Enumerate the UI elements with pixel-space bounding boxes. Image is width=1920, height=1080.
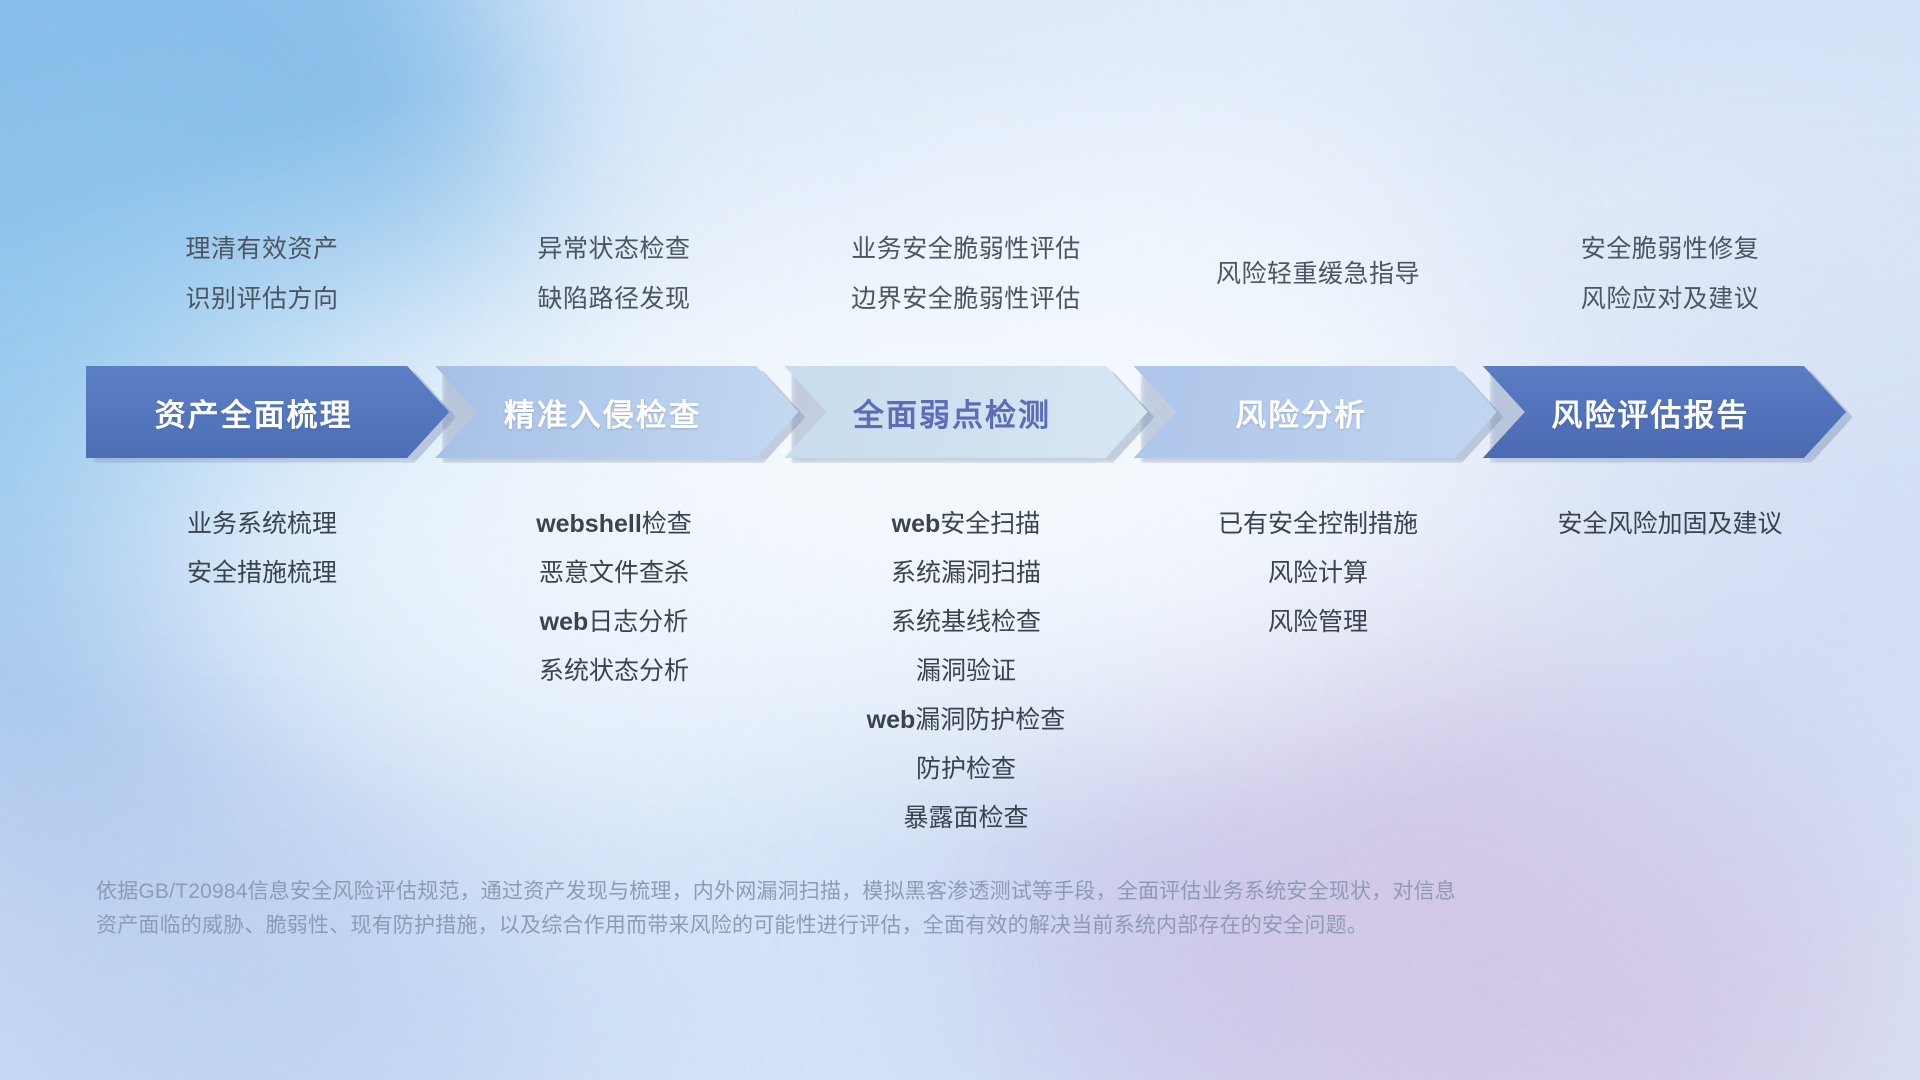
- bottom-item: web日志分析: [438, 598, 790, 647]
- bottom-items-weakness-detection: web安全扫描系统漏洞扫描系统基线检查漏洞验证web漏洞防护检查防护检查暴露面检…: [790, 500, 1142, 843]
- chevron-weakness-detection[interactable]: 全面弱点检测: [784, 366, 1147, 458]
- slide-canvas: 理清有效资产识别评估方向异常状态检查缺陷路径发现业务安全脆弱性评估边界安全脆弱性…: [0, 0, 1920, 1080]
- bottom-item-cjk: 日志分析: [588, 608, 688, 636]
- top-item: 缺陷路径发现: [438, 274, 790, 324]
- top-item: 识别评估方向: [86, 274, 438, 324]
- bottom-item: 防护检查: [790, 745, 1142, 794]
- bottom-item: 恶意文件查杀: [438, 549, 790, 598]
- bottom-detail-row: 业务系统梳理安全措施梳理webshell检查恶意文件查杀web日志分析系统状态分…: [86, 500, 1846, 843]
- bottom-item-cjk: 漏洞防护检查: [915, 706, 1065, 734]
- bottom-item: 系统漏洞扫描: [790, 549, 1142, 598]
- bottom-item: 漏洞验证: [790, 647, 1142, 696]
- bottom-item: 安全风险加固及建议: [1494, 500, 1846, 549]
- bottom-item: 风险管理: [1142, 598, 1494, 647]
- top-items-weakness-detection: 业务安全脆弱性评估边界安全脆弱性评估: [790, 224, 1142, 324]
- footer-line-2: 资产面临的威胁、脆弱性、现有防护措施，以及综合作用而带来风险的可能性进行评估，全…: [96, 909, 1656, 943]
- bottom-item-cjk: 安全扫描: [940, 510, 1040, 538]
- top-items-risk-analysis: 风险轻重缓急指导: [1142, 224, 1494, 299]
- chevron-label: 风险评估报告: [1551, 390, 1749, 435]
- bottom-item: 业务系统梳理: [86, 500, 438, 549]
- top-items-intrusion-check: 异常状态检查缺陷路径发现: [438, 224, 790, 324]
- bottom-item-cjk: 检查: [642, 510, 692, 538]
- bottom-item: 系统基线检查: [790, 598, 1142, 647]
- bottom-item: webshell检查: [438, 500, 790, 549]
- diagram-content: 理清有效资产识别评估方向异常状态检查缺陷路径发现业务安全脆弱性评估边界安全脆弱性…: [0, 0, 1920, 1080]
- bottom-items-asset-inventory: 业务系统梳理安全措施梳理: [86, 500, 438, 598]
- chevron-assessment-report[interactable]: 风险评估报告: [1483, 366, 1846, 458]
- bottom-item: web安全扫描: [790, 500, 1142, 549]
- top-item: 异常状态检查: [438, 224, 790, 274]
- bottom-item: 安全措施梳理: [86, 549, 438, 598]
- bottom-items-assessment-report: 安全风险加固及建议: [1494, 500, 1846, 549]
- chevron-risk-analysis[interactable]: 风险分析: [1134, 366, 1497, 458]
- chevron-label: 风险分析: [1235, 390, 1367, 435]
- footer-line-1: 依据GB/T20984信息安全风险评估规范，通过资产发现与梳理，内外网漏洞扫描，…: [96, 875, 1656, 909]
- chevron-label: 精准入侵检查: [504, 390, 702, 435]
- bottom-item-latin: web: [892, 510, 941, 538]
- top-items-asset-inventory: 理清有效资产识别评估方向: [86, 224, 438, 324]
- process-chevron-band: 资产全面梳理精准入侵检查全面弱点检测风险分析风险评估报告: [86, 366, 1846, 458]
- chevron-label: 资产全面梳理: [155, 390, 353, 435]
- top-descriptor-row: 理清有效资产识别评估方向异常状态检查缺陷路径发现业务安全脆弱性评估边界安全脆弱性…: [86, 224, 1846, 324]
- bottom-items-risk-analysis: 已有安全控制措施风险计算风险管理: [1142, 500, 1494, 647]
- bottom-item-latin: web: [540, 608, 589, 636]
- bottom-item: 已有安全控制措施: [1142, 500, 1494, 549]
- footer-description: 依据GB/T20984信息安全风险评估规范，通过资产发现与梳理，内外网漏洞扫描，…: [96, 875, 1656, 943]
- top-items-assessment-report: 安全脆弱性修复风险应对及建议: [1494, 224, 1846, 324]
- top-item: 风险轻重缓急指导: [1142, 249, 1494, 299]
- bottom-item-latin: web: [867, 706, 916, 734]
- top-item: 业务安全脆弱性评估: [790, 224, 1142, 274]
- bottom-item: 风险计算: [1142, 549, 1494, 598]
- chevron-asset-inventory[interactable]: 资产全面梳理: [86, 366, 449, 458]
- top-item: 边界安全脆弱性评估: [790, 274, 1142, 324]
- bottom-items-intrusion-check: webshell检查恶意文件查杀web日志分析系统状态分析: [438, 500, 790, 696]
- chevron-label: 全面弱点检测: [853, 390, 1051, 435]
- top-item: 安全脆弱性修复: [1494, 224, 1846, 274]
- top-item: 理清有效资产: [86, 224, 438, 274]
- bottom-item: web漏洞防护检查: [790, 696, 1142, 745]
- chevron-intrusion-check[interactable]: 精准入侵检查: [435, 366, 798, 458]
- bottom-item: 暴露面检查: [790, 794, 1142, 843]
- top-item: 风险应对及建议: [1494, 274, 1846, 324]
- bottom-item-latin: webshell: [536, 510, 642, 538]
- bottom-item: 系统状态分析: [438, 647, 790, 696]
